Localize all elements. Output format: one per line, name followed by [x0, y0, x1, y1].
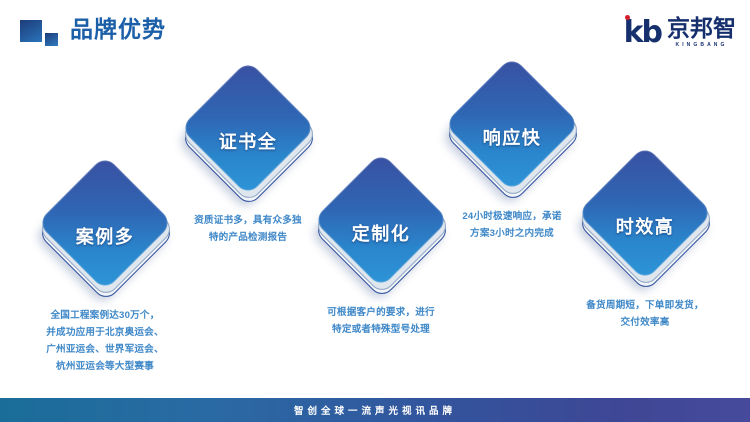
feature-caption-5: 备货周期短，下单即发货， 交付效率高: [560, 297, 730, 331]
caption-line: 广州亚运会、世界军运会、: [20, 341, 190, 358]
logo-mark-icon: kb: [624, 18, 661, 48]
brand-logo: kb 京邦智 KINGBANG: [624, 16, 736, 50]
feature-label-5: 时效高: [584, 165, 706, 287]
page-footer: 智创全球一流声光视讯品牌: [0, 398, 750, 422]
header-decor-squares: [20, 20, 62, 48]
decor-square-small-icon: [45, 33, 58, 46]
feature-caption-3: 可根据客户的要求，进行 特定或者特殊型号处理: [296, 304, 466, 338]
caption-line: 特定或者特殊型号处理: [296, 321, 466, 338]
caption-line: 备货周期短，下单即发货，: [560, 297, 730, 314]
feature-caption-1: 全国工程案例达30万个， 并成功应用于北京奥运会、 广州亚运会、世界军运会、 杭…: [20, 307, 190, 375]
caption-line: 并成功应用于北京奥运会、: [20, 324, 190, 341]
page-title: 品牌优势: [70, 14, 166, 44]
caption-line: 杭州亚运会等大型赛事: [20, 358, 190, 375]
feature-item-5[interactable]: 时效高 备货周期短，下单即发货， 交付效率高: [560, 165, 730, 331]
caption-line: 全国工程案例达30万个，: [20, 307, 190, 324]
features-stage: 案例多 全国工程案例达30万个， 并成功应用于北京奥运会、 广州亚运会、世界军运…: [0, 62, 750, 398]
feature-diamond-5[interactable]: 时效高: [584, 165, 706, 287]
feature-label-1: 案例多: [44, 175, 166, 297]
caption-line: 可根据客户的要求，进行: [296, 304, 466, 321]
logo-mark-text: kb: [624, 18, 661, 48]
logo-dot-icon: [625, 15, 630, 20]
caption-line: 交付效率高: [560, 314, 730, 331]
logo-chinese-name: 京邦智 KINGBANG: [667, 17, 736, 49]
feature-label-3: 定制化: [320, 172, 442, 294]
logo-cn-text: 京邦智: [667, 17, 736, 40]
feature-label-4: 响应快: [451, 76, 573, 198]
feature-diamond-3[interactable]: 定制化: [320, 172, 442, 294]
logo-pinyin-text: KINGBANG: [667, 41, 736, 49]
feature-diamond-2[interactable]: 证书全: [187, 80, 309, 202]
feature-label-2: 证书全: [187, 80, 309, 202]
footer-slogan: 智创全球一流声光视讯品牌: [294, 403, 456, 417]
decor-square-large-icon: [20, 20, 42, 42]
feature-diamond-4[interactable]: 响应快: [451, 76, 573, 198]
page-header: 品牌优势 kb 京邦智 KINGBANG: [0, 0, 750, 62]
feature-diamond-1[interactable]: 案例多: [44, 175, 166, 297]
